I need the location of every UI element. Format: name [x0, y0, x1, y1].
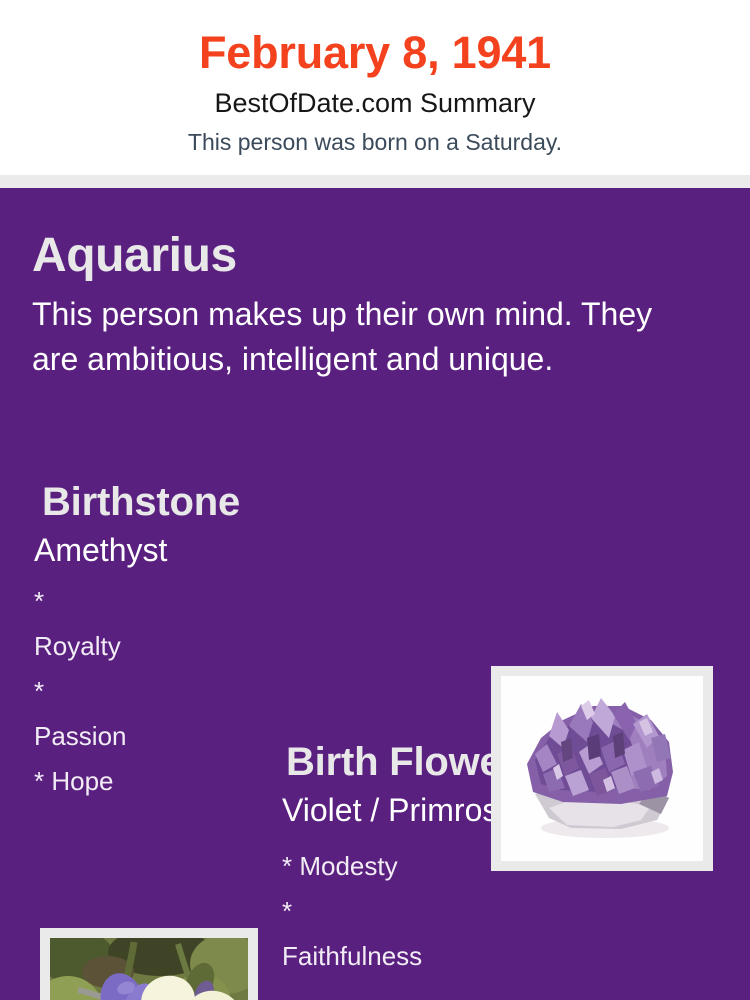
- birthstone-name: Amethyst: [34, 530, 167, 570]
- list-item: * Faithfulness: [282, 889, 422, 979]
- list-item: * Hope: [34, 759, 127, 804]
- card-header: February 8, 1941 BestOfDate.com Summary …: [0, 0, 750, 175]
- birth-flower-trait-list: * Modesty * Faithfulness: [282, 844, 422, 979]
- violet-primrose-photo: [50, 938, 248, 1000]
- summary-body-panel: Aquarius This person makes up their own …: [0, 188, 750, 1000]
- birth-flower-name: Violet / Primrose: [282, 790, 516, 830]
- header-divider: [0, 175, 750, 188]
- bestofdate-summary-card: February 8, 1941 BestOfDate.com Summary …: [0, 0, 750, 1000]
- born-weekday-note: This person was born on a Saturday.: [0, 128, 750, 156]
- site-summary-label: BestOfDate.com Summary: [0, 87, 750, 120]
- page-title: February 8, 1941: [0, 26, 750, 80]
- list-item: * Royalty: [34, 579, 127, 669]
- zodiac-description: This person makes up their own mind. The…: [32, 292, 680, 382]
- amethyst-crystal-icon: [501, 676, 703, 861]
- amethyst-photo-frame: [491, 666, 713, 871]
- list-item: * Passion: [34, 669, 127, 759]
- birthstone-heading: Birthstone: [42, 478, 240, 526]
- zodiac-sign-heading: Aquarius: [32, 228, 237, 284]
- violet-primrose-icon: [50, 938, 248, 1000]
- amethyst-crystal-photo: [501, 676, 703, 861]
- birth-flower-photo-frame: [40, 928, 258, 1000]
- list-item: * Modesty: [282, 844, 422, 889]
- birth-flower-heading: Birth Flower: [286, 738, 517, 786]
- birthstone-trait-list: * Royalty * Passion * Hope: [34, 579, 127, 804]
